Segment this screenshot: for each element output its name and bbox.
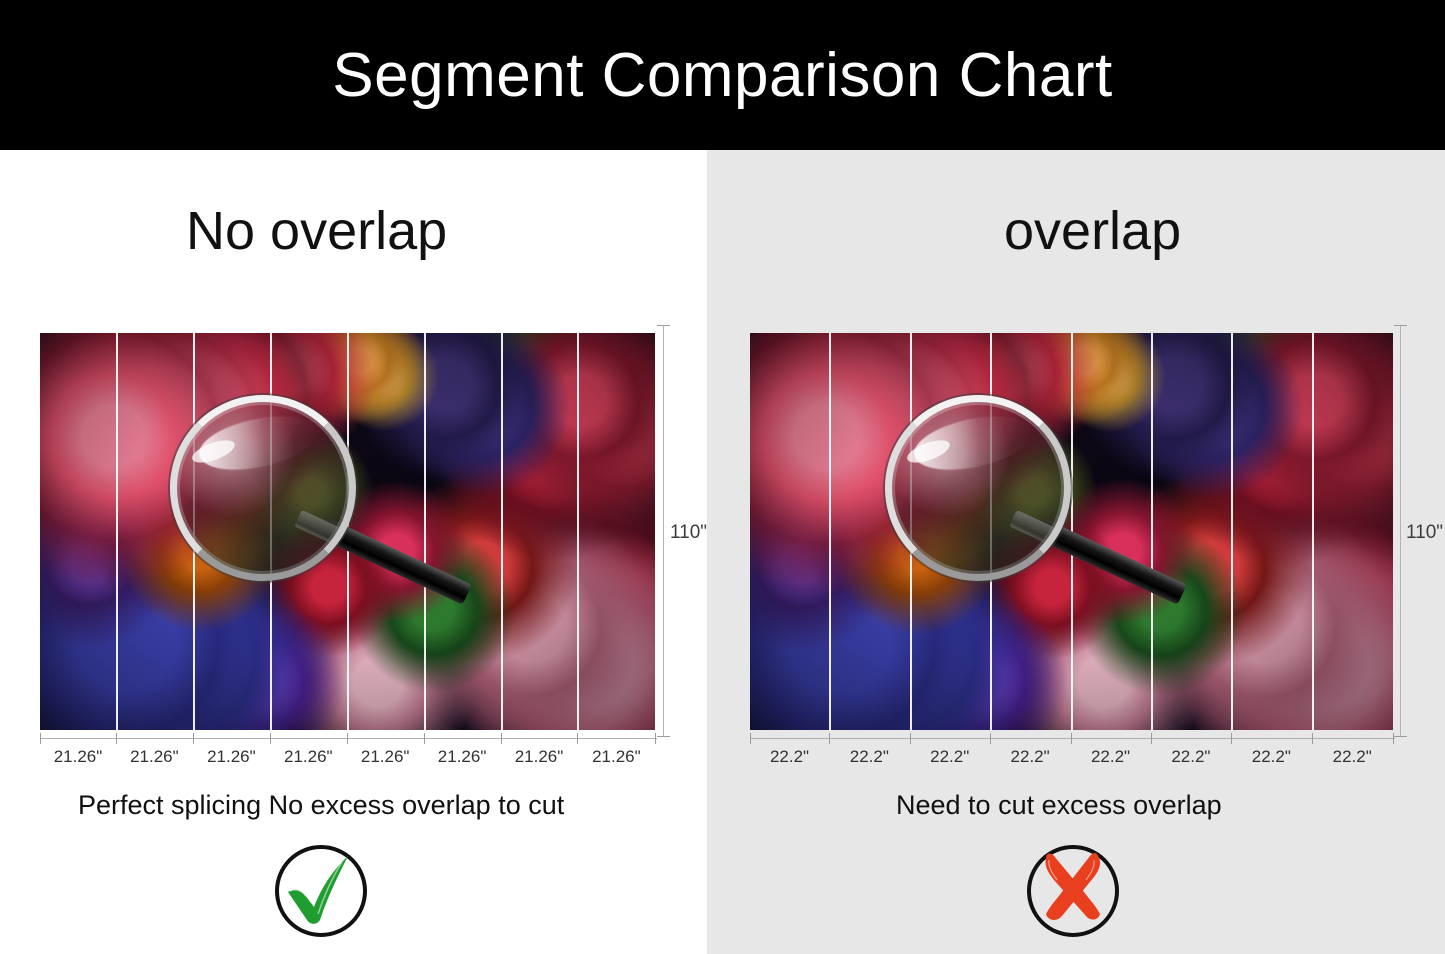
- left-height-dimension-line: [663, 325, 664, 737]
- ruler-tick: [577, 733, 578, 744]
- segment-divider: [829, 333, 831, 730]
- right-panel-heading: overlap: [1004, 200, 1181, 262]
- comparison-body: No overlap: [0, 150, 1445, 954]
- ruler-tick: [1071, 733, 1072, 744]
- segment-divider: [577, 333, 579, 730]
- right-segment-label: 22.2": [1071, 747, 1151, 767]
- ruler-tick: [829, 733, 830, 744]
- left-segment-label: 21.26": [577, 747, 655, 767]
- header-band: Segment Comparison Chart: [0, 0, 1445, 150]
- ruler-tick: [1312, 733, 1313, 744]
- right-mural-wrap: [750, 333, 1393, 730]
- dimension-cap-top: [1394, 325, 1407, 326]
- right-segment-label: 22.2": [1312, 747, 1393, 767]
- ruler-tick: [1393, 733, 1394, 744]
- ruler-tick: [910, 733, 911, 744]
- right-caption: Need to cut excess overlap: [896, 790, 1222, 821]
- ruler-tick: [655, 733, 656, 744]
- segment-divider: [1071, 333, 1073, 730]
- segment-divider: [1312, 333, 1314, 730]
- panel-overlap: overlap: [707, 150, 1445, 954]
- right-segment-label: 22.2": [1231, 747, 1311, 767]
- ruler-tick: [347, 733, 348, 744]
- segment-divider: [990, 333, 992, 730]
- panel-no-overlap: No overlap: [0, 150, 707, 954]
- right-mural-image: [750, 333, 1393, 730]
- left-segment-label: 21.26": [347, 747, 424, 767]
- check-mark-glyph: [272, 842, 368, 938]
- segment-divider: [347, 333, 349, 730]
- dimension-cap-bottom: [657, 736, 670, 737]
- left-segment-label: 21.26": [40, 747, 116, 767]
- ruler-tick: [40, 733, 41, 744]
- right-segment-label: 22.2": [1151, 747, 1231, 767]
- left-caption: Perfect splicing No excess overlap to cu…: [78, 790, 564, 821]
- check-mark-icon: [272, 842, 368, 938]
- left-mural-wrap: [40, 333, 655, 730]
- cross-mark-glyph: [1024, 842, 1120, 938]
- segment-divider: [424, 333, 426, 730]
- right-height-dimension-line: [1400, 325, 1401, 737]
- ruler-tick: [116, 733, 117, 744]
- segment-divider: [193, 333, 195, 730]
- segment-divider: [501, 333, 503, 730]
- left-segment-ruler: 21.26" 21.26" 21.26" 21.26" 21.26" 21.26…: [40, 738, 657, 739]
- right-segment-label: 22.2": [829, 747, 909, 767]
- segment-divider: [910, 333, 912, 730]
- segment-divider: [1231, 333, 1233, 730]
- left-mural-image: [40, 333, 655, 730]
- ruler-tick: [424, 733, 425, 744]
- left-panel-heading: No overlap: [186, 200, 447, 262]
- ruler-tick: [193, 733, 194, 744]
- ruler-tick: [1151, 733, 1152, 744]
- right-segment-label: 22.2": [990, 747, 1070, 767]
- left-segment-label: 21.26": [193, 747, 270, 767]
- left-segment-label: 21.26": [501, 747, 578, 767]
- segment-divider: [270, 333, 272, 730]
- ruler-tick: [501, 733, 502, 744]
- left-height-label: 110": [670, 522, 707, 544]
- segment-divider: [1151, 333, 1153, 730]
- segment-divider: [116, 333, 118, 730]
- dimension-cap-top: [657, 325, 670, 326]
- right-segment-ruler: 22.2" 22.2" 22.2" 22.2" 22.2" 22.2" 22.2…: [750, 738, 1395, 739]
- ruler-tick: [270, 733, 271, 744]
- left-segment-label: 21.26": [116, 747, 193, 767]
- left-segment-label: 21.26": [270, 747, 347, 767]
- ruler-tick: [1231, 733, 1232, 744]
- page-title: Segment Comparison Chart: [332, 40, 1112, 111]
- ruler-tick: [990, 733, 991, 744]
- left-segment-label: 21.26": [424, 747, 501, 767]
- ruler-tick: [750, 733, 751, 744]
- right-height-label: 110": [1406, 522, 1443, 544]
- cross-mark-icon: [1024, 842, 1120, 938]
- dimension-cap-bottom: [1394, 736, 1407, 737]
- right-segment-label: 22.2": [750, 747, 829, 767]
- right-segment-label: 22.2": [910, 747, 990, 767]
